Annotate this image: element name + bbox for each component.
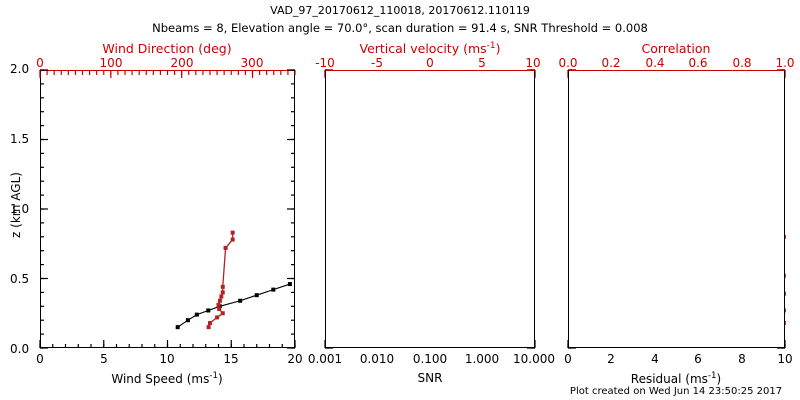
ws-tick-15: 15 <box>223 352 238 366</box>
vv-tick-0: 0 <box>426 56 434 70</box>
correlation-axis-title: Correlation <box>642 41 711 56</box>
residual-axis-label-exp: -1 <box>708 371 717 381</box>
res-tick-2: 2 <box>607 352 615 366</box>
res-tick-0: 0 <box>564 352 572 366</box>
vv-title-text: Vertical velocity (ms <box>359 41 486 56</box>
corr-tick-0.0: 0.0 <box>558 56 577 70</box>
vv-title-exp: -1 <box>487 41 496 51</box>
snr-tick-10.000: 10.000 <box>513 352 555 366</box>
wind-speed-axis-label-text: Wind Speed (ms <box>111 372 209 386</box>
wd-tick-0: 0 <box>36 56 44 70</box>
figure-title: VAD_97_20170612_110018, 20170612.110119 <box>270 4 530 17</box>
y-tick-1.0: 1.0 <box>10 202 29 216</box>
vertical-velocity-axis-title: Vertical velocity (ms-1) <box>359 41 500 56</box>
ws-tick-20: 20 <box>287 352 302 366</box>
vad-plot-figure: VAD_97_20170612_110018, 20170612.110119 … <box>0 0 800 400</box>
res-tick-8: 8 <box>738 352 746 366</box>
snr-panel-frame <box>325 70 535 348</box>
res-tick-10: 10 <box>777 352 792 366</box>
plot-created-footer: Plot created on Wed Jun 14 23:50:25 2017 <box>570 386 782 397</box>
vv-tick-m10: -10 <box>315 56 335 70</box>
corr-tick-0.6: 0.6 <box>688 56 707 70</box>
wd-tick-200: 200 <box>171 56 194 70</box>
wind-speed-axis-label-tail: ) <box>218 372 223 386</box>
ws-tick-5: 5 <box>100 352 108 366</box>
y-tick-1.5: 1.5 <box>10 132 29 146</box>
residual-axis-label: Residual (ms-1) <box>631 371 721 386</box>
wd-tick-300: 300 <box>241 56 264 70</box>
residual-panel-frame <box>568 70 785 348</box>
y-tick-0.0: 0.0 <box>10 342 29 356</box>
y-tick-0.5: 0.5 <box>10 272 29 286</box>
vv-tick-10: 10 <box>525 56 540 70</box>
y-tick-2.0: 2.0 <box>10 62 29 76</box>
vv-tick-5: 5 <box>478 56 486 70</box>
residual-axis-label-text: Residual (ms <box>631 372 708 386</box>
snr-axis-label: SNR <box>418 371 443 385</box>
corr-tick-0.4: 0.4 <box>645 56 664 70</box>
wind-speed-axis-label-exp: -1 <box>209 371 218 381</box>
snr-tick-0.100: 0.100 <box>413 352 447 366</box>
wind-direction-axis-title: Wind Direction (deg) <box>102 41 231 56</box>
wind-speed-axis-label: Wind Speed (ms-1) <box>111 371 222 386</box>
wind-panel-frame <box>40 70 295 348</box>
corr-tick-1.0: 1.0 <box>775 56 794 70</box>
corr-tick-0.8: 0.8 <box>732 56 751 70</box>
snr-tick-0.001: 0.001 <box>308 352 342 366</box>
snr-tick-0.010: 0.010 <box>360 352 394 366</box>
vv-title-tail: ) <box>496 41 501 56</box>
figure-subtitle: Nbeams = 8, Elevation angle = 70.0°, sca… <box>152 21 648 35</box>
residual-axis-label-tail: ) <box>717 372 722 386</box>
wd-tick-100: 100 <box>100 56 123 70</box>
res-tick-6: 6 <box>694 352 702 366</box>
vv-tick-m5: -5 <box>371 56 383 70</box>
ws-tick-0: 0 <box>36 352 44 366</box>
ws-tick-10: 10 <box>159 352 174 366</box>
res-tick-4: 4 <box>651 352 659 366</box>
snr-tick-1.000: 1.000 <box>465 352 499 366</box>
corr-tick-0.2: 0.2 <box>601 56 620 70</box>
